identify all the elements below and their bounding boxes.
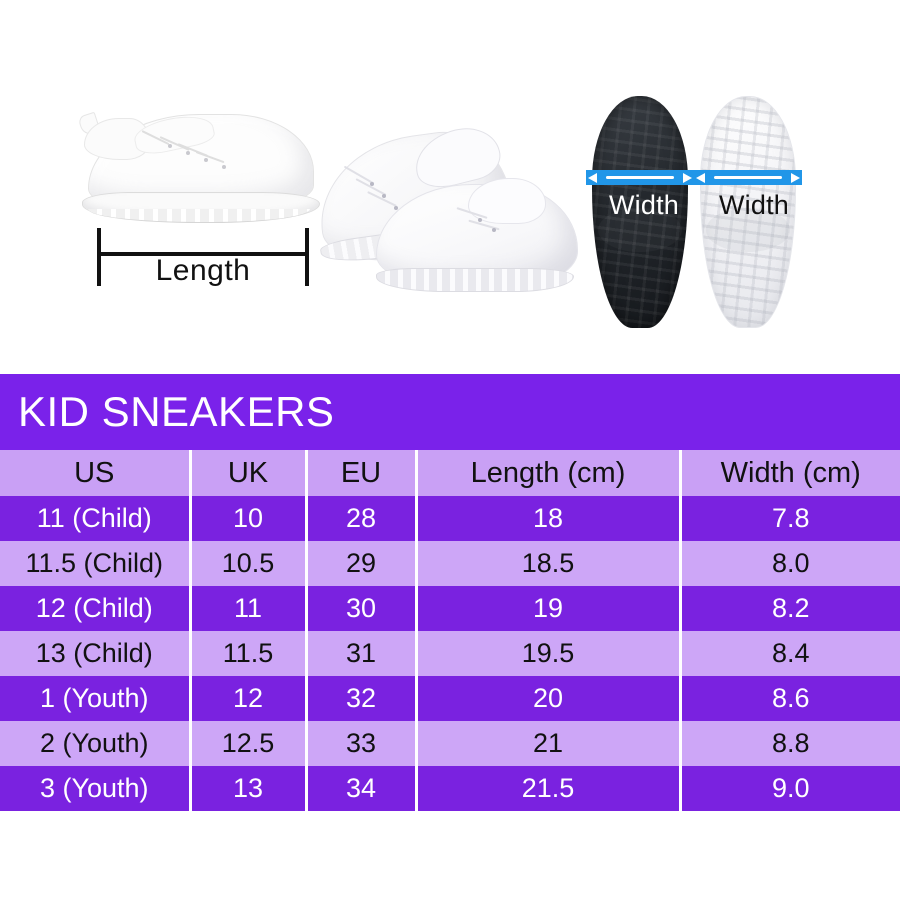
- cell-us: 1 (Youth): [0, 676, 190, 721]
- table-header-row: USUKEULength (cm)Width (cm): [0, 450, 900, 496]
- cell-uk: 12: [190, 676, 306, 721]
- cell-width-cm: 8.2: [680, 586, 900, 631]
- cell-length-cm: 21: [416, 721, 680, 766]
- cell-us: 13 (Child): [0, 631, 190, 676]
- cell-us: 11.5 (Child): [0, 541, 190, 586]
- width-label-light: Width: [694, 188, 814, 222]
- cell-uk: 13: [190, 766, 306, 811]
- column-header-length-cm: Length (cm): [416, 450, 680, 496]
- arrow-right-icon: [791, 173, 800, 183]
- cell-eu: 30: [306, 586, 416, 631]
- shoe-eyelet: [478, 218, 482, 222]
- shoe-eyelet: [382, 194, 386, 198]
- width-label-dark: Width: [584, 188, 704, 222]
- column-header-width-cm: Width (cm): [680, 450, 900, 496]
- cell-us: 3 (Youth): [0, 766, 190, 811]
- cell-us: 2 (Youth): [0, 721, 190, 766]
- table-row: 2 (Youth)12.533218.8: [0, 721, 900, 766]
- width-arrow-light: [694, 170, 802, 185]
- shoe-eyelet: [492, 228, 496, 232]
- cell-length-cm: 20: [416, 676, 680, 721]
- table-row: 11 (Child)1028187.8: [0, 496, 900, 541]
- cell-width-cm: 8.4: [680, 631, 900, 676]
- cell-uk: 12.5: [190, 721, 306, 766]
- cell-length-cm: 21.5: [416, 766, 680, 811]
- size-chart: KID SNEAKERS USUKEULength (cm)Width (cm)…: [0, 374, 900, 811]
- cell-eu: 31: [306, 631, 416, 676]
- sneaker-sole-light-image: Width: [700, 96, 796, 328]
- sneaker-sole-dark-image: Width: [592, 96, 688, 328]
- shoe-eyelet: [186, 151, 190, 155]
- table-row: 13 (Child)11.53119.58.4: [0, 631, 900, 676]
- column-header-uk: UK: [190, 450, 306, 496]
- cell-eu: 33: [306, 721, 416, 766]
- arrow-shaft: [714, 176, 782, 179]
- cell-width-cm: 9.0: [680, 766, 900, 811]
- cell-length-cm: 18: [416, 496, 680, 541]
- cell-length-cm: 18.5: [416, 541, 680, 586]
- shoe-illustration-panel: Length Width: [0, 0, 900, 374]
- sneaker-pair-image: [318, 100, 578, 310]
- cell-eu: 29: [306, 541, 416, 586]
- cell-uk: 10: [190, 496, 306, 541]
- shoe-eyelet: [168, 144, 172, 148]
- cell-uk: 10.5: [190, 541, 306, 586]
- arrow-left-icon: [588, 173, 597, 183]
- arrow-right-icon: [683, 173, 692, 183]
- column-header-us: US: [0, 450, 190, 496]
- table-row: 12 (Child)1130198.2: [0, 586, 900, 631]
- cell-width-cm: 8.8: [680, 721, 900, 766]
- shoe-outsole-tread: [88, 209, 310, 223]
- shoe-eyelet: [222, 165, 226, 169]
- cell-eu: 28: [306, 496, 416, 541]
- size-chart-title: KID SNEAKERS: [0, 374, 900, 450]
- cell-us: 12 (Child): [0, 586, 190, 631]
- cell-length-cm: 19: [416, 586, 680, 631]
- table-row: 11.5 (Child)10.52918.58.0: [0, 541, 900, 586]
- table-body: 11 (Child)1028187.811.5 (Child)10.52918.…: [0, 496, 900, 811]
- width-arrow-dark: [586, 170, 694, 185]
- cell-uk: 11.5: [190, 631, 306, 676]
- table-row: 1 (Youth)1232208.6: [0, 676, 900, 721]
- shoe-eyelet: [204, 158, 208, 162]
- length-label: Length: [97, 252, 309, 290]
- cell-us: 11 (Child): [0, 496, 190, 541]
- sneaker-side-view-image: [80, 110, 320, 240]
- cell-eu: 32: [306, 676, 416, 721]
- cell-eu: 34: [306, 766, 416, 811]
- cell-width-cm: 7.8: [680, 496, 900, 541]
- table-row: 3 (Youth)133421.59.0: [0, 766, 900, 811]
- cell-width-cm: 8.6: [680, 676, 900, 721]
- cell-width-cm: 8.0: [680, 541, 900, 586]
- cell-length-cm: 19.5: [416, 631, 680, 676]
- front-shoe-sole: [376, 268, 574, 292]
- shoe-eyelet: [370, 182, 374, 186]
- size-table: USUKEULength (cm)Width (cm) 11 (Child)10…: [0, 450, 900, 811]
- arrow-left-icon: [696, 173, 705, 183]
- column-header-eu: EU: [306, 450, 416, 496]
- cell-uk: 11: [190, 586, 306, 631]
- arrow-shaft: [606, 176, 674, 179]
